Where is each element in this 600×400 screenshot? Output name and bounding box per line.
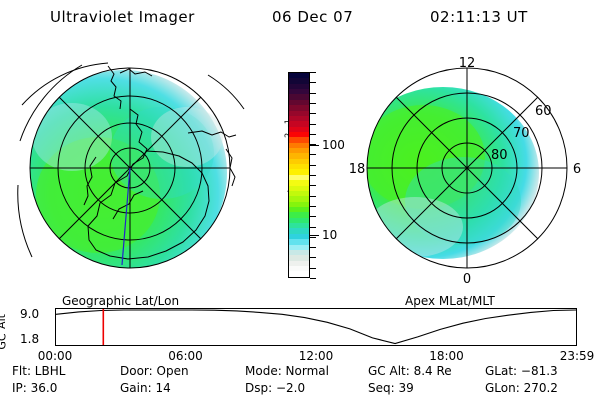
mlat-label-70: 70 xyxy=(513,126,530,141)
status-field-mode: Mode: Normal xyxy=(245,364,329,378)
timeline-ylabel-alt: Alt xyxy=(0,314,8,329)
colorbar-minor-tick xyxy=(310,72,316,73)
timeline-y-axis-label: Alt GC xyxy=(2,311,18,349)
mlt-label-18: 18 xyxy=(349,162,366,177)
timeline-ytick-bottom: 1.8 xyxy=(20,332,39,346)
status-field-door: Door: Open xyxy=(120,364,189,378)
colorbar-minor-tick xyxy=(310,185,316,186)
status-field-dsp: Dsp: −2.0 xyxy=(245,381,305,395)
colorbar-minor-tick xyxy=(310,216,316,217)
timeline-svg xyxy=(56,309,576,345)
colorbar-ticks: 10010 xyxy=(310,72,340,278)
timeline-ylabel-gc: GC xyxy=(0,333,9,349)
colorbar-tick-label-0: 100 xyxy=(322,138,345,152)
timeline-xtick-0: 00:00 xyxy=(38,349,73,363)
status-field-ip: IP: 36.0 xyxy=(12,381,57,395)
timeline-xtick-4: 23:59 xyxy=(560,349,595,363)
header-bar: Ultraviolet Imager 06 Dec 07 02:11:13 UT xyxy=(0,8,600,34)
mlt-label-0: 0 xyxy=(463,272,471,287)
timeline-x-axis-labels: 00:0006:0012:0018:0023:59 xyxy=(0,349,600,363)
mlt-label-6: 6 xyxy=(573,162,581,177)
mlt-label-12: 12 xyxy=(459,56,476,71)
colorbar-minor-tick xyxy=(310,103,316,104)
colorbar-minor-tick xyxy=(310,257,316,258)
colorbar-tick-label-1: 10 xyxy=(322,228,337,242)
colorbar-band-37 xyxy=(289,271,309,276)
apex-graticule xyxy=(367,68,567,268)
colorbar-minor-tick xyxy=(310,134,316,135)
colorbar-gradient-box xyxy=(288,72,310,278)
status-field-gain: Gain: 14 xyxy=(120,381,171,395)
status-field-gc-alt: GC Alt: 8.4 Re xyxy=(368,364,452,378)
colorbar-minor-tick xyxy=(310,154,316,155)
colorbar-minor-tick xyxy=(310,93,316,94)
observation-date: 06 Dec 07 xyxy=(272,8,353,26)
ultraviolet-imager-window: Ultraviolet Imager 06 Dec 07 02:11:13 UT xyxy=(0,0,600,400)
colorbar-minor-tick xyxy=(310,196,316,197)
status-field-glat: GLat: −81.3 xyxy=(485,364,558,378)
colorbar-minor-tick xyxy=(310,124,316,125)
colorbar-minor-tick xyxy=(310,227,316,228)
status-field-seq: Seq: 39 xyxy=(368,381,414,395)
timeline-xtick-1: 06:00 xyxy=(168,349,203,363)
status-field-flt: Flt: LBHL xyxy=(12,364,65,378)
colorbar-minor-tick xyxy=(310,278,316,279)
status-row: Flt: LBHLDoor: OpenMode: NormalGC Alt: 8… xyxy=(0,364,600,381)
colorbar-minor-tick xyxy=(310,113,316,114)
colorbar-minor-tick xyxy=(310,175,316,176)
status-row: IP: 36.0Gain: 14Dsp: −2.0Seq: 39GLon: 27… xyxy=(0,381,600,398)
colorbar-minor-tick xyxy=(310,268,316,269)
timeline-xtick-3: 18:00 xyxy=(429,349,464,363)
colorbar-minor-tick xyxy=(310,165,316,166)
status-panel: Flt: LBHLDoor: OpenMode: NormalGC Alt: 8… xyxy=(0,364,600,400)
app-title: Ultraviolet Imager xyxy=(50,8,195,26)
geographic-polar-plot[interactable] xyxy=(12,45,262,290)
status-field-glon: GLon: 270.2 xyxy=(485,381,558,395)
colorbar-minor-tick xyxy=(310,237,316,238)
colorbar-gradient xyxy=(289,73,309,277)
colorbar-major-tick-1 xyxy=(310,235,319,236)
colorbar-minor-tick xyxy=(310,82,316,83)
geographic-plot-svg xyxy=(12,45,262,290)
altitude-timeline[interactable]: Alt GC 9.0 1.8 00:0006:0012:0018:0023:59 xyxy=(0,305,600,363)
apex-plot-svg: 12 6 0 18 60 70 80 xyxy=(345,45,595,290)
colorbar: photon cm-2s-1 10010 xyxy=(268,60,343,290)
altitude-curve xyxy=(56,310,576,344)
colorbar-minor-tick xyxy=(310,247,316,248)
timeline-xtick-2: 12:00 xyxy=(299,349,334,363)
apex-polar-plot[interactable]: 12 6 0 18 60 70 80 xyxy=(345,45,595,290)
mlat-label-60: 60 xyxy=(535,104,552,119)
colorbar-major-tick-0 xyxy=(310,145,319,146)
timeline-ytick-top: 9.0 xyxy=(20,307,39,321)
colorbar-minor-tick xyxy=(310,206,316,207)
observation-time: 02:11:13 UT xyxy=(430,8,528,26)
mlat-label-80: 80 xyxy=(491,148,508,163)
timeline-plot-area[interactable] xyxy=(55,308,577,346)
